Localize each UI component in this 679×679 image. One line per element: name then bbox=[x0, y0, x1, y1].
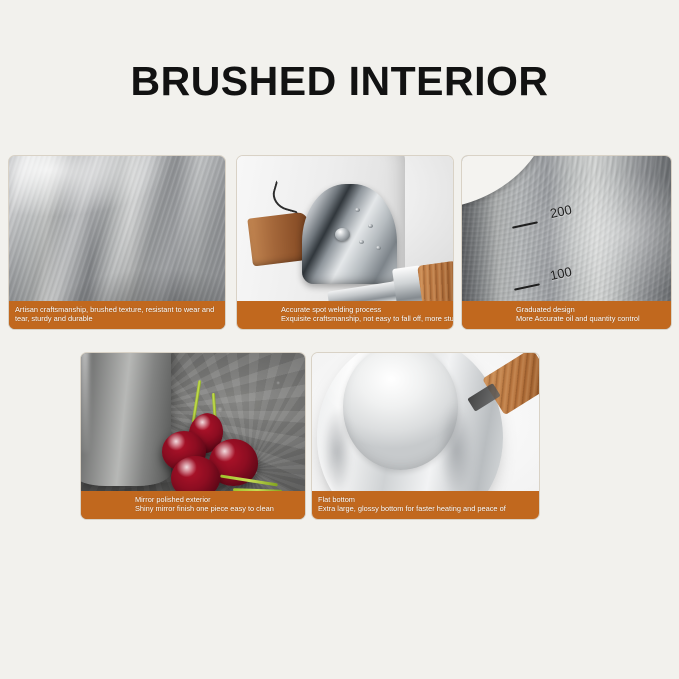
caption-line-1: Artisan craftsmanship, brushed texture, … bbox=[15, 305, 219, 315]
weld-spot-dot bbox=[359, 240, 364, 244]
caption-mirror-polish: Mirror polished exterior Shiny mirror fi… bbox=[81, 491, 305, 519]
caption-line-2: Extra large, glossy bottom for faster he… bbox=[318, 504, 533, 514]
caption-line-1: Mirror polished exterior bbox=[135, 495, 299, 505]
bottom-shadow-right bbox=[439, 403, 473, 497]
weld-rivet bbox=[335, 228, 350, 241]
infographic-page: BRUSHED INTERIOR Artisan craftsmanship, … bbox=[0, 0, 679, 679]
weld-spot-dot bbox=[376, 246, 381, 250]
page-title: BRUSHED INTERIOR bbox=[0, 58, 679, 105]
panel-brushed-texture: Artisan craftsmanship, brushed texture, … bbox=[8, 155, 226, 330]
panel-flat-bottom: Flat bottom Extra large, glossy bottom f… bbox=[311, 352, 540, 520]
caption-line-1: Flat bottom bbox=[318, 495, 533, 505]
steel-handle-bracket bbox=[302, 184, 397, 284]
caption-line-2: tear, sturdy and durable bbox=[15, 314, 219, 324]
caption-brushed-texture: Artisan craftsmanship, brushed texture, … bbox=[9, 301, 225, 329]
bottom-shadow-left bbox=[322, 407, 352, 497]
weld-spot-dot bbox=[368, 224, 373, 228]
panel-graduated-design: 200 100 Graduated design More Accurate o… bbox=[461, 155, 672, 330]
panel-spot-welding: Accurate spot welding process Exquisite … bbox=[236, 155, 454, 330]
pot-mirror-sheen bbox=[81, 353, 89, 452]
panel-mirror-polish: Mirror polished exterior Shiny mirror fi… bbox=[80, 352, 306, 520]
caption-graduated-design: Graduated design More Accurate oil and q… bbox=[462, 301, 671, 329]
caption-spot-welding: Accurate spot welding process Exquisite … bbox=[237, 301, 453, 329]
caption-line-1: Accurate spot welding process bbox=[281, 305, 447, 315]
pot-exterior-body bbox=[81, 353, 171, 486]
caption-line-2: More Accurate oil and quantity control bbox=[516, 314, 665, 324]
caption-line-2: Shiny mirror finish one piece easy to cl… bbox=[135, 504, 299, 514]
caption-flat-bottom: Flat bottom Extra large, glossy bottom f… bbox=[312, 491, 539, 519]
weld-spot-dot bbox=[355, 208, 360, 212]
caption-line-1: Graduated design bbox=[516, 305, 665, 315]
caption-line-2: Exquisite craftsmanship, not easy to fal… bbox=[281, 314, 447, 324]
